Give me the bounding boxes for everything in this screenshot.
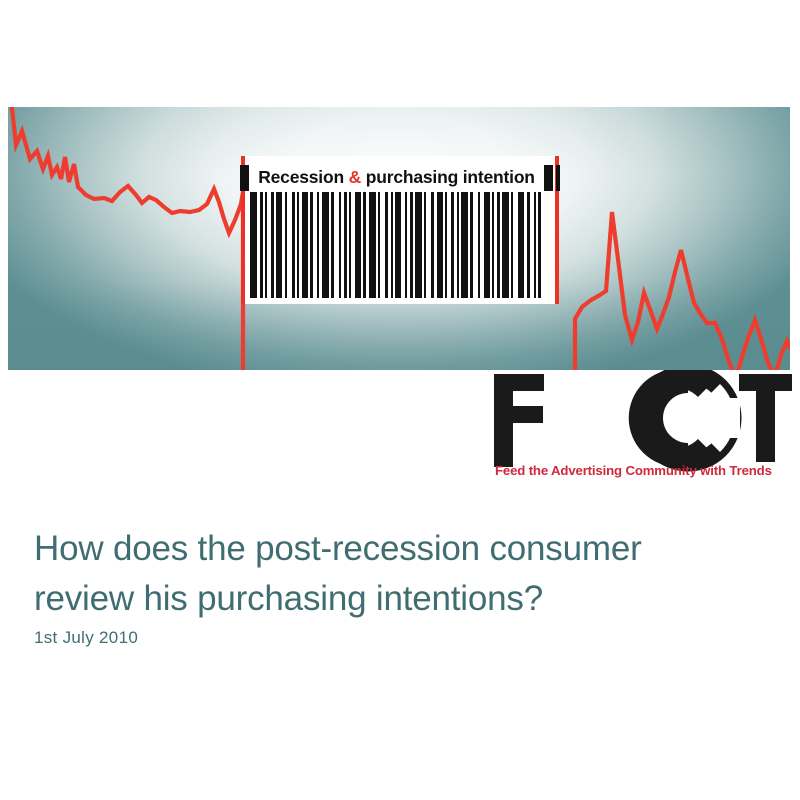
barcode-card: Recession & purchasing intention [241, 156, 559, 304]
presentation-date: 1st July 2010 [34, 628, 138, 648]
barcode-rail-right [555, 156, 559, 304]
barcode-bar [292, 192, 295, 298]
barcode-bar [260, 192, 263, 298]
logo-letter-f [494, 374, 546, 467]
barcode-title-cap-right [544, 165, 553, 191]
barcode-bar [431, 192, 434, 298]
barcode-bar [378, 192, 380, 298]
barcode-title-prefix: Recession [258, 167, 344, 187]
barcode-bar [250, 192, 257, 298]
barcode-bar [461, 192, 468, 298]
barcode-title-text: Recession & purchasing intention [249, 169, 544, 187]
barcode-bar [484, 192, 490, 298]
barcode-bar [424, 192, 426, 298]
barcode-bar [317, 192, 319, 298]
barcode-bar [502, 192, 509, 298]
barcode-bar [322, 192, 329, 298]
logo-tagline: Feed the Advertising Community with Tren… [495, 463, 772, 478]
fact-logo: Feed the Advertising Community with Tren… [492, 370, 792, 478]
barcode-bar [457, 192, 459, 298]
barcode-bar [271, 192, 274, 298]
barcode-bar [437, 192, 443, 298]
barcode-bar [497, 192, 500, 298]
page-title: How does the post-recession consumer rev… [34, 524, 754, 623]
logo-letter-t [739, 374, 792, 462]
barcode-bar [538, 192, 541, 298]
barcode-bar [527, 192, 530, 298]
barcode-bar [265, 192, 267, 298]
barcode-bar [302, 192, 308, 298]
barcode-bar [285, 192, 287, 298]
barcode-bar [518, 192, 524, 298]
barcode-bar [534, 192, 536, 298]
barcode-bar [395, 192, 401, 298]
barcode-title-ampersand: & [349, 167, 361, 187]
barcode-bar [415, 192, 422, 298]
barcode-bar [369, 192, 376, 298]
barcode-bar [511, 192, 513, 298]
barcode-bar [470, 192, 473, 298]
barcode-bar [363, 192, 366, 298]
barcode-bar [297, 192, 299, 298]
barcode-bar [405, 192, 407, 298]
barcode-bars [250, 192, 550, 298]
barcode-bar [344, 192, 347, 298]
barcode-bar [391, 192, 393, 298]
barcode-bar [310, 192, 313, 298]
barcode-title-suffix: purchasing intention [366, 167, 535, 187]
page-title-line-2: review his purchasing intentions? [34, 574, 754, 624]
barcode-bar [385, 192, 388, 298]
barcode-bar [339, 192, 341, 298]
barcode-bar [355, 192, 361, 298]
barcode-title-row: Recession & purchasing intention [241, 163, 559, 193]
barcode-bar [276, 192, 282, 298]
barcode-bar [349, 192, 351, 298]
barcode-rail-left [241, 156, 245, 304]
page-title-line-1: How does the post-recession consumer [34, 529, 642, 568]
barcode-bar [492, 192, 494, 298]
barcode-bar [451, 192, 454, 298]
barcode-bar [331, 192, 334, 298]
barcode-bar [478, 192, 480, 298]
logo-letter-c [629, 370, 740, 467]
barcode-bar [410, 192, 413, 298]
barcode-bar [445, 192, 447, 298]
